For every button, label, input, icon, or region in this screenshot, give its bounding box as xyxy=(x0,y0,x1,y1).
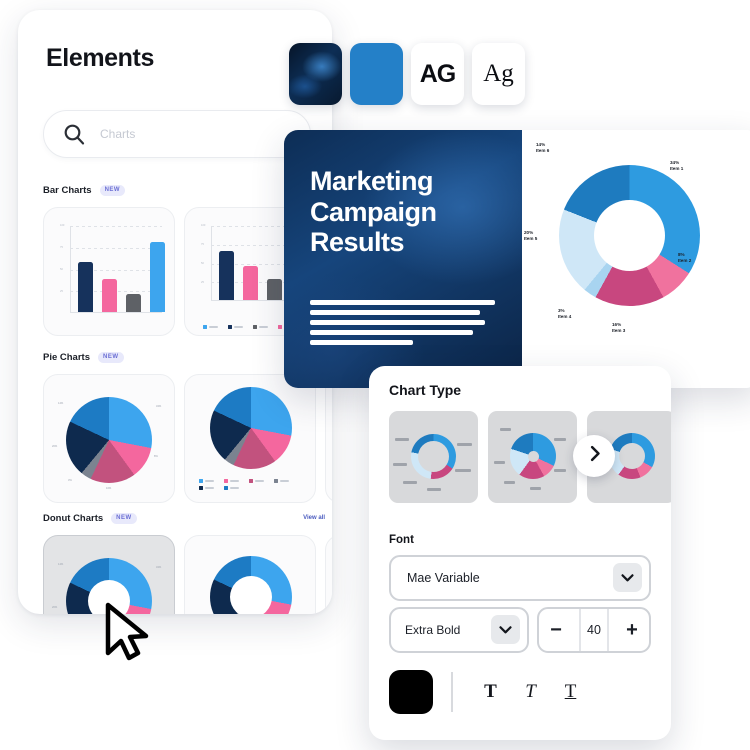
new-badge: NEW xyxy=(98,352,124,363)
chart-type-panel: Chart Type xyxy=(369,366,671,740)
donut-chart-card[interactable]: 14% 34% 20% 16% xyxy=(43,535,175,614)
slide-chart-panel: 14%Item 6 34%Item 1 20%Item 5 8%Item 2 3… xyxy=(522,130,750,388)
section-title: Donut Charts xyxy=(43,513,103,524)
font-weight-select[interactable]: Extra Bold xyxy=(389,607,529,653)
search-placeholder: Charts xyxy=(100,127,135,141)
increase-font-size-button[interactable]: + xyxy=(615,619,649,642)
card-row: 14% 34% 20% 16% xyxy=(43,535,332,614)
section-header: Donut Charts NEW View all xyxy=(43,510,332,526)
font-family-select[interactable]: Mae Variable xyxy=(389,555,651,601)
underline-button[interactable]: T xyxy=(551,681,591,703)
text-color-swatch[interactable] xyxy=(389,670,433,714)
donut-chart-card[interactable] xyxy=(184,535,316,614)
bar-chart-card[interactable]: 100 75 50 25 xyxy=(43,207,175,336)
slide-title: Marketing Campaign Results xyxy=(310,166,500,258)
font-weight-value: Extra Bold xyxy=(405,623,460,637)
chart-type-thumbnails xyxy=(389,411,671,503)
italic-button[interactable]: T xyxy=(511,681,551,703)
section-donut-charts: Donut Charts NEW View all 14% 34% 20% 16… xyxy=(43,510,332,614)
decrease-font-size-button[interactable]: − xyxy=(539,619,573,642)
page-title: Elements xyxy=(46,44,154,73)
bold-button[interactable]: T xyxy=(471,681,511,703)
donut-label-item3: 16%Item 3 xyxy=(612,322,625,334)
view-all-link[interactable]: View all xyxy=(303,515,325,521)
font-bold-label: AG xyxy=(420,60,456,89)
pie-chart-card[interactable]: 14% 34% 20% 3% 16% 8% xyxy=(43,374,175,503)
donut-chart xyxy=(559,165,700,306)
donut-chart-card[interactable] xyxy=(325,535,332,614)
chart-type-title: Chart Type xyxy=(389,382,461,398)
font-section-label: Font xyxy=(389,534,414,546)
swatch-row: AG Ag xyxy=(289,43,525,105)
section-title: Bar Charts xyxy=(43,185,92,196)
chart-legend xyxy=(199,479,303,490)
slide-title-panel: Marketing Campaign Results xyxy=(284,130,522,388)
search-icon xyxy=(62,122,86,146)
color-swatch[interactable] xyxy=(350,43,403,105)
slide-body-placeholder-lines xyxy=(310,300,495,350)
font-family-value: Mae Variable xyxy=(407,571,480,585)
donut-label-item6: 14%Item 6 xyxy=(536,142,549,154)
donut-label-item1: 34%Item 1 xyxy=(670,160,683,172)
section-title: Pie Charts xyxy=(43,352,90,363)
new-badge: NEW xyxy=(100,185,126,196)
next-chart-types-button[interactable] xyxy=(573,435,615,477)
slide-preview-card[interactable]: Marketing Campaign Results 14%Item 6 34%… xyxy=(284,130,750,388)
thumb-pie-chart[interactable] xyxy=(488,411,577,503)
font-size-value[interactable]: 40 xyxy=(587,623,601,637)
font-size-stepper[interactable]: − 40 + xyxy=(537,607,651,653)
donut-label-item4: 3%Item 4 xyxy=(558,308,571,320)
card-row: 14% 34% 20% 3% 16% 8% xyxy=(43,374,332,503)
chevron-down-icon[interactable] xyxy=(613,563,642,592)
image-swatch[interactable] xyxy=(289,43,342,105)
font-light-swatch[interactable]: Ag xyxy=(472,43,525,105)
search-input[interactable]: Charts xyxy=(43,110,311,158)
thumb-ring-chart[interactable] xyxy=(389,411,478,503)
chevron-right-icon xyxy=(585,444,604,468)
text-format-row: T T T xyxy=(389,670,591,714)
divider xyxy=(451,672,453,712)
font-bold-swatch[interactable]: AG xyxy=(411,43,464,105)
donut-label-item2: 8%Item 2 xyxy=(678,252,691,264)
pie-chart-card[interactable] xyxy=(184,374,316,503)
chevron-down-icon[interactable] xyxy=(491,615,520,644)
pie-chart-card[interactable] xyxy=(325,374,332,503)
new-badge: NEW xyxy=(111,513,137,524)
font-light-label: Ag xyxy=(483,60,514,88)
donut-label-item5: 20%Item 5 xyxy=(524,230,537,242)
